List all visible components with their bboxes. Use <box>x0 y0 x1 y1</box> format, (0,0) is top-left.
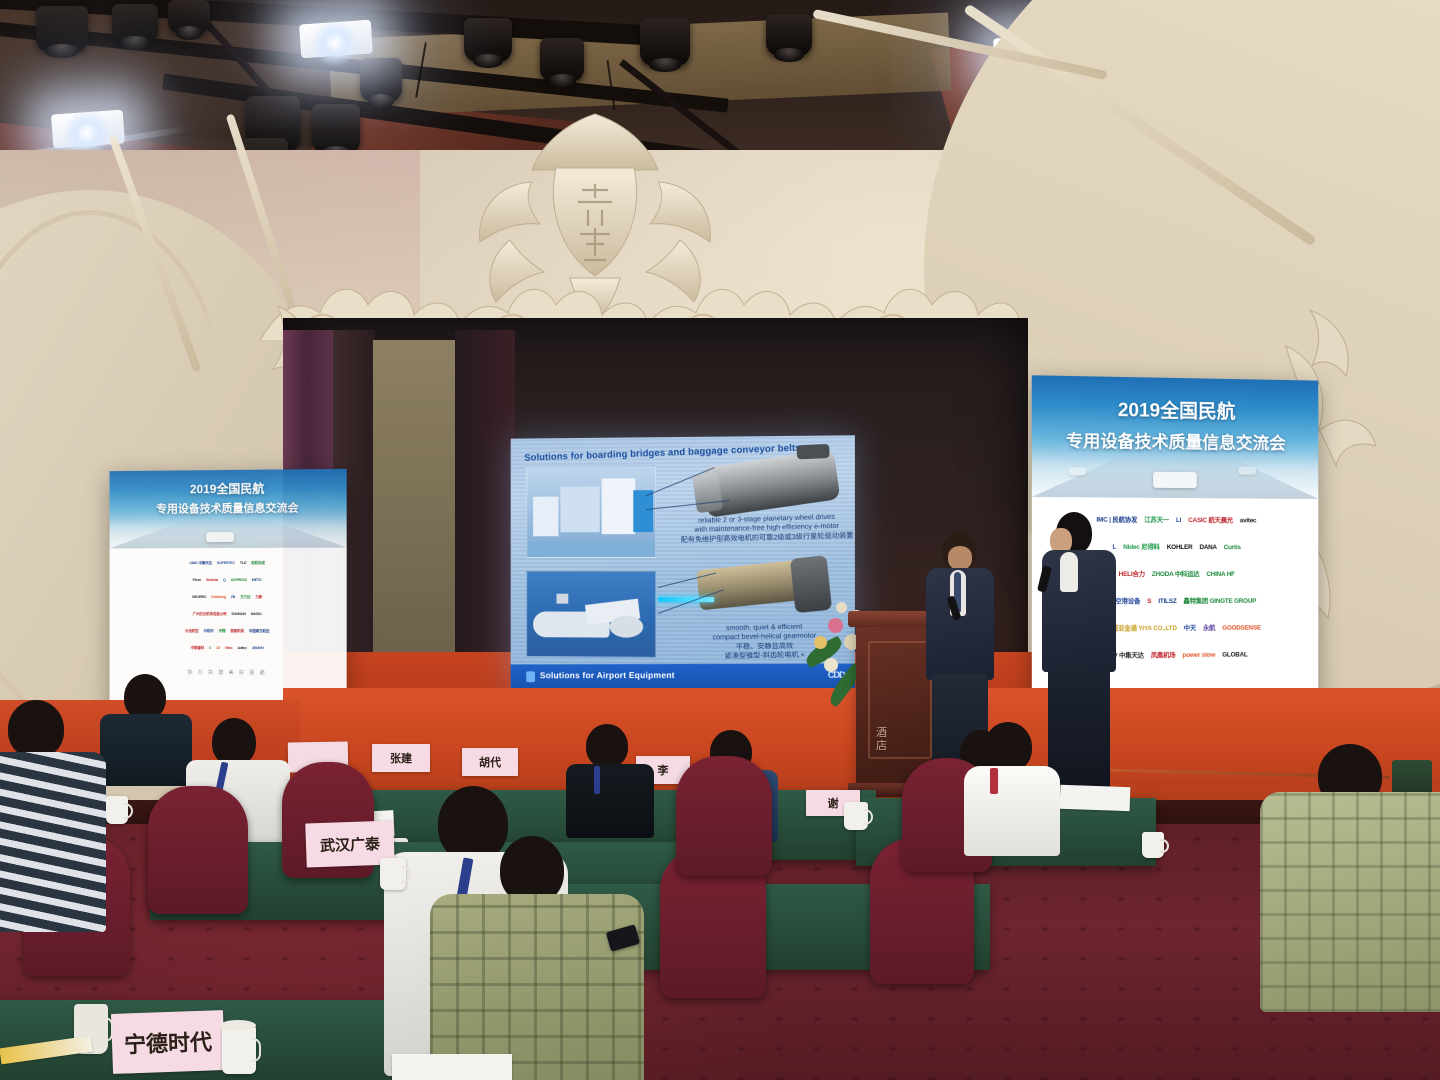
bridge-ground-stripe <box>527 541 655 557</box>
sponsor-logo: power stow <box>1182 653 1215 660</box>
attendee-foreground <box>0 700 102 930</box>
sponsor-logo: GOODSENSE <box>1222 626 1261 633</box>
banner-vehicle-graphic <box>1238 467 1256 475</box>
attendee-head <box>8 700 64 758</box>
stage-light-fixture <box>168 0 210 34</box>
highlight-beam <box>658 597 714 602</box>
attendee-plaid-shirt <box>430 894 644 1080</box>
flower-bloom <box>836 602 847 613</box>
sponsor-logo-row: 广州白云机场设备公司SUNNONHAGIO <box>117 606 338 623</box>
attendee-plaid-right <box>1260 762 1440 1012</box>
handout-paper <box>1060 785 1131 811</box>
tea-cup <box>222 1026 256 1074</box>
sponsor-logo: 力新 <box>255 596 262 600</box>
conference-hall-photo: Solutions for boarding bridges and bagga… <box>0 0 1440 1080</box>
sponsor-logo-row: CIMC 中集天达SUPERTECTLD民航协发 <box>117 555 338 573</box>
sponsor-logo: 鑫特集团 GINGTE GROUP <box>1183 599 1256 606</box>
sponsor-logo: 首都机场 <box>230 630 244 634</box>
conveyor-part <box>610 616 644 638</box>
sponsor-logo: 长龙航空 <box>185 630 198 634</box>
handout-paper <box>392 1054 512 1080</box>
sponsor-logo: avitec <box>1240 519 1257 525</box>
sponsor-logo: ZENITH <box>252 647 264 651</box>
sponsor-logo: S <box>1147 599 1151 605</box>
stage-light-fixture <box>36 6 88 52</box>
attendee-torso <box>964 766 1060 856</box>
planetary-drive-render <box>701 449 840 518</box>
bridge-part <box>633 490 653 532</box>
attendee-white-shirt <box>964 722 1056 852</box>
stage-light-fixture <box>540 38 584 82</box>
led-glow <box>312 20 358 66</box>
name-card: 胡代 <box>462 748 518 776</box>
chair <box>148 786 248 914</box>
sponsor-logo: ZB <box>231 596 235 600</box>
sponsor-logo: EIETO <box>252 579 262 583</box>
slide-photo-boarding-bridge <box>526 465 656 558</box>
lanyard <box>990 768 998 794</box>
host-shirt <box>1060 552 1078 592</box>
slide-footer-icon <box>526 671 535 682</box>
sponsor-logo: DANA <box>1199 545 1216 551</box>
podium-text-line: 酒 <box>876 727 887 740</box>
podium-text: 酒 店 <box>876 727 887 752</box>
sponsor-logo: 江苏天一 <box>1144 518 1169 525</box>
sponsor-logo: Curtis <box>1224 545 1241 551</box>
stage-light-fixture <box>112 4 158 44</box>
conveyor-part <box>557 594 569 604</box>
flower-bloom <box>814 636 827 649</box>
attendee <box>566 724 650 834</box>
stage-light-fixture <box>312 104 360 154</box>
sponsor-logo: 中天 <box>1184 626 1196 632</box>
sponsor-logo: 中航材 <box>203 630 213 634</box>
slide-footer-text: Solutions for Airport Equipment <box>540 670 675 680</box>
bridge-part <box>533 497 558 537</box>
tea-cup <box>106 796 128 824</box>
banner-vehicle-graphic <box>1153 472 1197 488</box>
sponsor-logo: AGPRESS <box>231 579 247 583</box>
sponsor-logo: Q <box>223 579 226 583</box>
banner-title-line2: 专用设备技术质量信息交流会 <box>1032 426 1318 455</box>
sponsor-logo: CIMC 中集天达 <box>189 562 212 566</box>
sponsor-logo: 中国南方航空 <box>249 630 269 634</box>
chair <box>676 756 772 876</box>
attendee-striped-shirt <box>0 752 106 932</box>
banner-title-line1: 2019全国民航 <box>1032 394 1318 426</box>
sponsor-logo: Vitec <box>225 647 233 651</box>
sponsor-logo-row: 长龙航空中航材天翔首都机场中国南方航空 <box>117 623 338 641</box>
cup-lid <box>220 1020 256 1031</box>
sponsor-logo: 方力达 <box>240 596 250 600</box>
flower-bloom <box>824 658 838 672</box>
sponsor-logo: CHINA HF <box>1206 572 1234 578</box>
sponsor-logo: SUPERTEC <box>217 562 235 566</box>
sponsor-logo: TLD <box>240 562 246 566</box>
banner-vehicle-graphic <box>1068 467 1086 475</box>
name-card: 张建 <box>372 744 430 772</box>
banner-sky-left: 2019全国民航 专用设备技术质量信息交流会 <box>110 469 347 549</box>
bevel-helical-gearmotor-render <box>696 560 805 611</box>
attendee <box>100 674 190 784</box>
sponsor-logo: KOHLER <box>1167 545 1193 551</box>
sponsor-logo: Weichai <box>206 579 218 583</box>
sponsor-logo: Flexn <box>193 579 201 583</box>
tea-cup <box>844 802 868 830</box>
stage-light-fixture <box>766 14 812 56</box>
sponsor-logo: HAGIO <box>251 613 262 617</box>
attendee-plaid-shirt <box>1260 792 1440 1012</box>
sponsor-logo: 天翔 <box>219 630 226 634</box>
attendee-torso <box>100 714 192 786</box>
sponsor-logo: 33 <box>216 647 220 651</box>
banner-title-line1: 2019全国民航 <box>110 479 347 498</box>
sponsor-logo: 广州白云机场设备公司 <box>193 613 227 617</box>
sponsor-logo: GLOBAL <box>1222 653 1247 660</box>
sponsor-logo: CASIC 航天晨光 <box>1188 518 1233 525</box>
stage-light-fixture <box>464 18 512 62</box>
speaker-face <box>948 546 972 570</box>
slide-caption-top: reliable 2 or 3-stage planetary wheel dr… <box>680 512 855 545</box>
podium-text-line: 店 <box>876 740 887 753</box>
banner-logo-grid-left: CIMC 中集天达SUPERTECTLD民航协发FlexnWeichaiQAGP… <box>110 548 347 658</box>
sponsor-logo: Nidec 尼得科 <box>1123 545 1160 552</box>
stage-curtain-right <box>455 330 515 670</box>
banner-sky-right: 2019全国民航 专用设备技术质量信息交流会 <box>1032 375 1318 499</box>
bridge-part <box>602 478 636 534</box>
tea-cup <box>380 858 406 890</box>
sponsor-logo: 凤凰机场 <box>1151 653 1176 660</box>
attendee-plaid <box>430 836 640 1080</box>
sponsor-logo: NEUERO <box>192 596 206 600</box>
sponsor-logo: ITILSZ <box>1158 599 1176 605</box>
sponsor-logo-row: 中联重科C33VitecAvitecZENITH <box>117 640 338 658</box>
attendee-head <box>586 724 628 768</box>
tea-cup <box>1142 832 1164 858</box>
sponsor-logo: Goldwing <box>211 596 226 600</box>
sponsor-logo: 民航协发 <box>251 562 265 566</box>
attendee-head <box>212 718 256 766</box>
flower-bloom <box>828 618 843 633</box>
sponsor-logo: Avitec <box>237 647 246 651</box>
attendee-head <box>984 722 1032 772</box>
sponsor-logo: C <box>209 647 211 651</box>
sponsor-logo: LI <box>1176 518 1181 524</box>
sponsor-logo: 永航 <box>1203 626 1215 632</box>
banner-vehicle-graphic <box>206 532 234 542</box>
sponsor-logo: 中联重科 <box>191 647 204 651</box>
sponsor-logo-row: NEUEROGoldwingZB方力达力新 <box>117 589 338 606</box>
lanyard <box>594 766 600 794</box>
host-jacket <box>1042 550 1116 672</box>
stage-light-fixture <box>640 18 690 66</box>
sponsor-logo: ZHODA 中科运达 <box>1152 572 1200 578</box>
name-card-ningde: 宁德时代 <box>111 1010 225 1074</box>
sponsor-logo-row: FlexnWeichaiQAGPRESSEIETO <box>117 572 338 589</box>
bridge-part <box>560 486 599 532</box>
sponsor-logo: SUNNON <box>231 613 245 617</box>
banner-title-line2: 专用设备技术质量信息交流会 <box>110 499 347 517</box>
attendee-torso <box>566 764 654 838</box>
stage-light-fixture <box>360 58 402 102</box>
slide-render-conveyor <box>526 571 656 658</box>
